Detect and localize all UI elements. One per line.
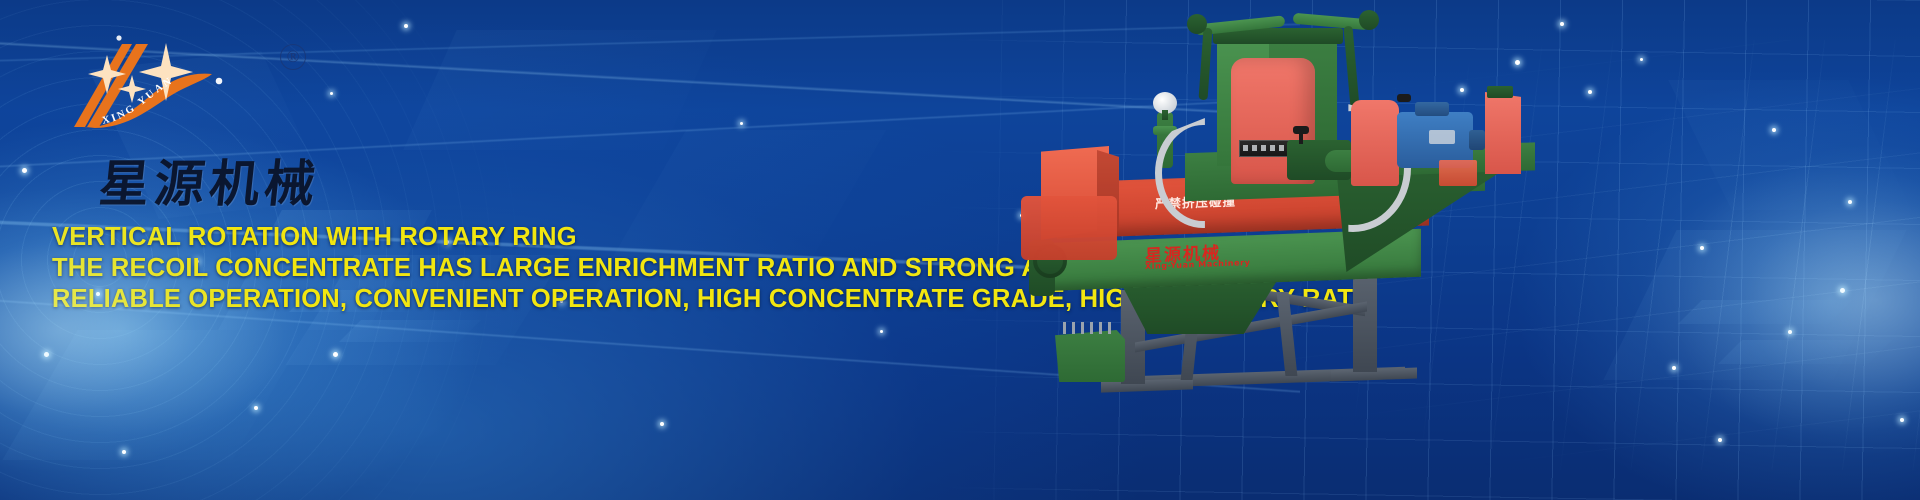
- machine-discharge-chute: [1485, 92, 1521, 174]
- machine-leg: [1353, 268, 1377, 372]
- registered-trademark-icon: ®: [280, 44, 306, 70]
- machine-motor-shaft-end: [1469, 130, 1485, 150]
- machine-pipe-hanger: [1198, 28, 1212, 100]
- machine-pipe-flange: [1187, 14, 1207, 34]
- machine-handwheel-stem: [1299, 132, 1303, 144]
- machine-terminal-box: [1055, 330, 1125, 382]
- shard-decoration: [2, 330, 307, 460]
- shard-decoration: [403, 30, 716, 150]
- machine-terminal-pins: [1063, 322, 1115, 334]
- machine-gauge-stem: [1162, 110, 1168, 120]
- logo-mark-icon: XING YUAN: [52, 22, 252, 152]
- headline-line-2: THE RECOIL CONCENTRATE HAS LARGE ENRICHM…: [52, 253, 1082, 284]
- headline-line-1: VERTICAL ROTATION WITH ROTARY RING: [52, 222, 1082, 253]
- logo-chinese-brand: 星源机械: [96, 144, 324, 216]
- machine-motor-terminal-box: [1415, 102, 1449, 116]
- headline-block: VERTICAL ROTATION WITH ROTARY RING THE R…: [52, 222, 1082, 315]
- headline-line-3: RELIABLE OPERATION, CONVENIENT OPERATION…: [52, 284, 1082, 315]
- company-logo[interactable]: XING YUAN ® 星源机械: [52, 22, 322, 212]
- machine-pipe-hanger: [1343, 26, 1359, 108]
- chevron-decoration: [1678, 300, 1852, 324]
- product-machine-illustration: 星源机械 Xing-Yuan Machinery 严禁挤压碰撞: [1035, 0, 1595, 500]
- machine-red-drum: [1021, 196, 1117, 260]
- chevron-decoration: [339, 320, 481, 342]
- machine-motor-plate: [1429, 130, 1455, 144]
- product-hero-banner: XING YUAN ® 星源机械 VERTICAL ROTATION WITH …: [0, 0, 1920, 500]
- machine-upper-red-block: [1439, 160, 1477, 186]
- machine-handwheel-knob: [1397, 94, 1411, 102]
- machine-pipe-flange: [1359, 10, 1379, 30]
- machine-belt-guard: [1351, 100, 1399, 186]
- chevron-decoration: [1718, 340, 1892, 364]
- shard-decoration: [1603, 230, 1906, 380]
- machine-chute-cap: [1487, 86, 1513, 98]
- shard-decoration: [1668, 80, 1911, 210]
